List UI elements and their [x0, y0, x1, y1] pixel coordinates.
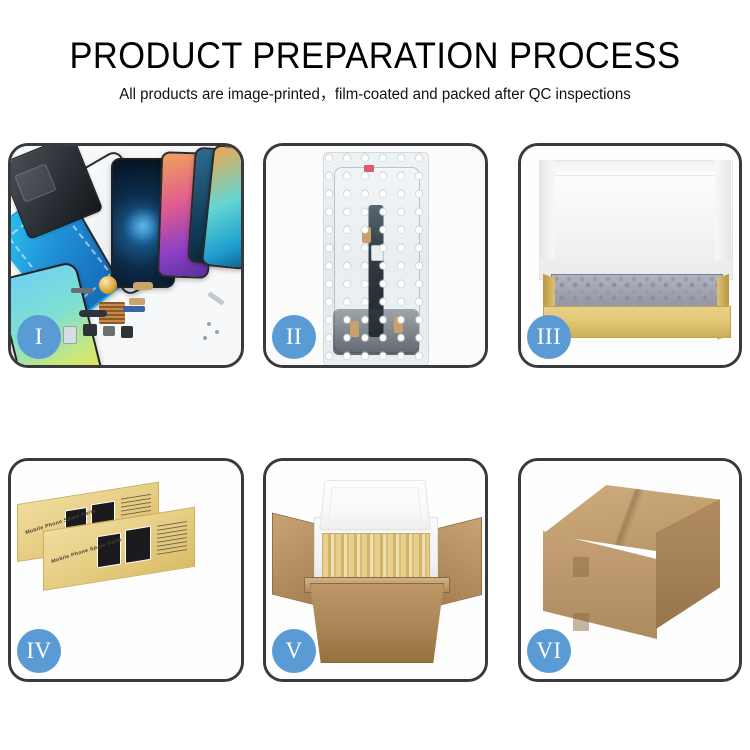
- lid-fold-left: [539, 160, 555, 260]
- taptic-module-part: [83, 324, 97, 336]
- flex-cable-part: [129, 298, 145, 305]
- process-step-card-2[interactable]: II: [263, 143, 488, 368]
- bubble-texture: [324, 153, 428, 365]
- process-step-card-1[interactable]: I: [8, 143, 244, 368]
- process-step-card-4[interactable]: Mobile Phone Spare Parts Mobile Phone Sp…: [8, 458, 244, 682]
- antenna-strip-part: [71, 288, 93, 293]
- bubble-wrap-bag: [323, 152, 429, 365]
- speaker-module-part: [99, 276, 117, 294]
- battery-connector-part: [63, 326, 77, 344]
- box-print-phone: [125, 526, 151, 564]
- process-step-card-6[interactable]: VI: [518, 458, 742, 682]
- sim-tray-part: [121, 326, 133, 338]
- carton-tape-patch: [573, 613, 589, 631]
- step-badge-3: III: [527, 315, 571, 359]
- step-badge-2: II: [272, 315, 316, 359]
- carton-body: [310, 583, 444, 663]
- screw-part: [215, 330, 219, 334]
- screw-part: [207, 322, 211, 326]
- step-badge-4: IV: [17, 629, 61, 673]
- process-step-card-3[interactable]: III: [518, 143, 742, 368]
- step-badge-6: VI: [527, 629, 571, 673]
- process-step-card-5[interactable]: V: [263, 458, 488, 682]
- camera-flex-part: [79, 310, 107, 317]
- lid-fold-right: [715, 160, 731, 260]
- step-badge-5: V: [272, 629, 316, 673]
- foam-lid: [319, 480, 431, 530]
- packed-retail-boxes: [322, 533, 430, 579]
- vibrator-part: [103, 326, 115, 336]
- kraft-tray-front: [543, 306, 731, 338]
- white-box-lid: [539, 160, 733, 280]
- flex-cable-part: [133, 282, 153, 290]
- carton-tape-patch: [573, 557, 589, 577]
- step-badge-1: I: [17, 315, 61, 359]
- box-print-text-lines: [157, 518, 187, 555]
- blue-connector-part: [123, 306, 145, 312]
- screw-part: [203, 336, 207, 340]
- process-step-grid: I II: [0, 0, 750, 750]
